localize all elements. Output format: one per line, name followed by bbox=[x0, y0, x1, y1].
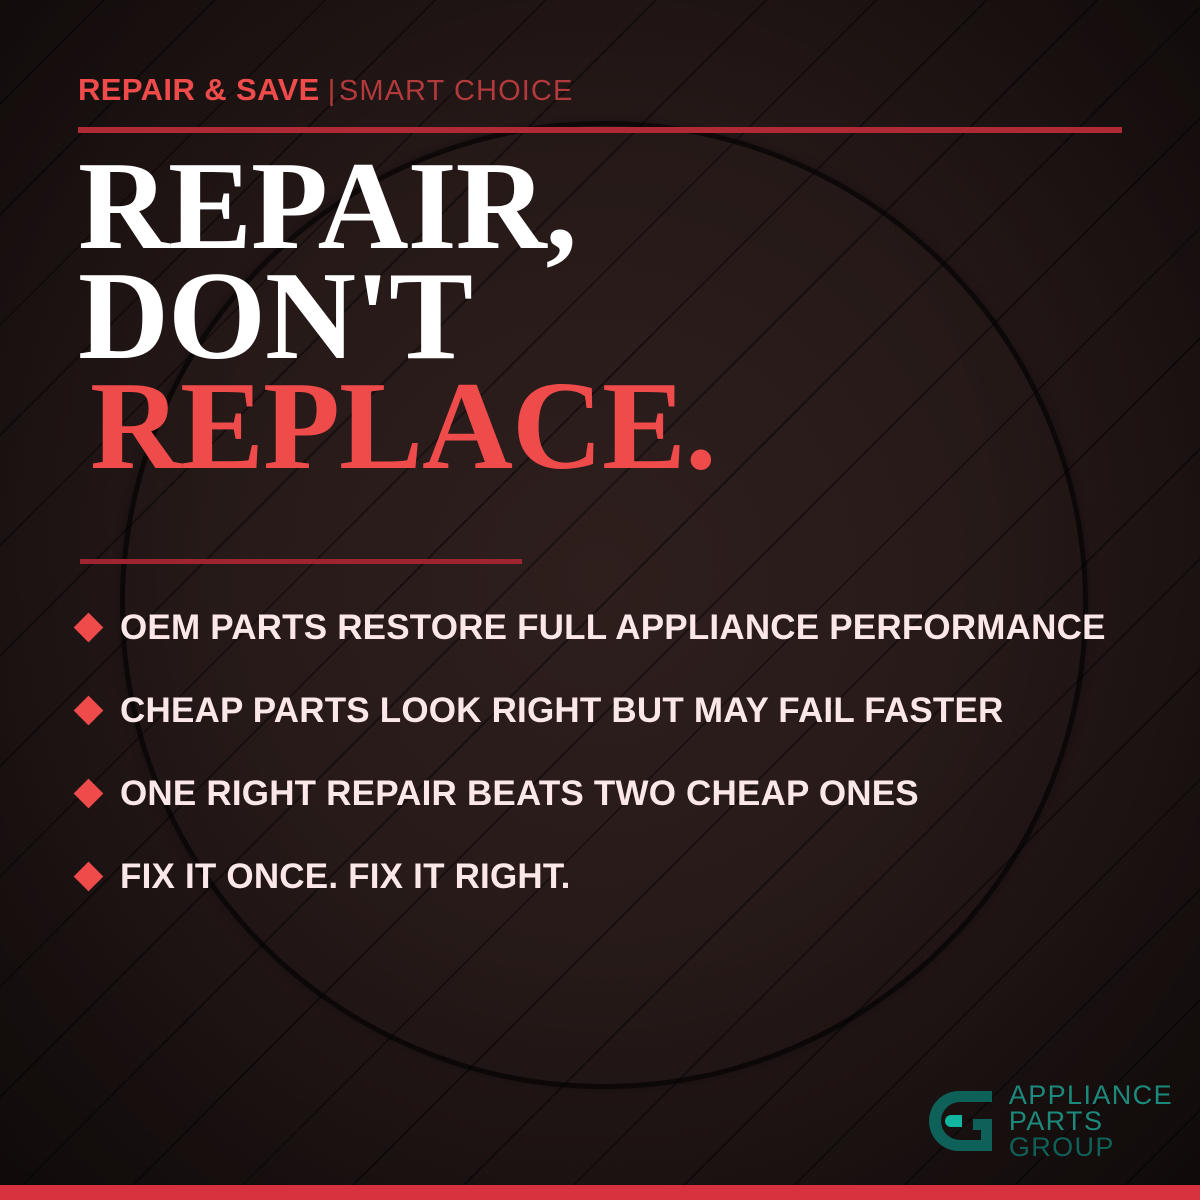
list-item: CHEAP PARTS LOOK RIGHT BUT MAY FAIL FAST… bbox=[78, 669, 1158, 752]
bottom-accent-bar bbox=[0, 1185, 1200, 1200]
divider-middle bbox=[80, 559, 522, 564]
poster-canvas: REPAIR & SAVE|SMART CHOICE REPAIR, DON'T… bbox=[0, 0, 1200, 1200]
list-item: ONE RIGHT REPAIR BEATS TWO CHEAP ONES bbox=[78, 752, 1158, 835]
list-item-label: FIX IT ONCE. FIX IT RIGHT. bbox=[120, 857, 571, 897]
divider-top bbox=[78, 127, 1122, 133]
list-item-label: CHEAP PARTS LOOK RIGHT BUT MAY FAIL FAST… bbox=[120, 691, 1004, 731]
poster-content: REPAIR & SAVE|SMART CHOICE REPAIR, DON'T… bbox=[0, 0, 1200, 1200]
diamond-icon bbox=[74, 696, 104, 726]
brand-line-1: APPLIANCE bbox=[1009, 1082, 1173, 1108]
diamond-icon bbox=[74, 779, 104, 809]
list-item-label: OEM PARTS RESTORE FULL APPLIANCE PERFORM… bbox=[120, 608, 1106, 648]
page-title: REPAIR, DON'T REPLACE. bbox=[78, 152, 1138, 482]
eyebrow: REPAIR & SAVE|SMART CHOICE bbox=[78, 74, 573, 106]
g-monogram-icon bbox=[929, 1088, 995, 1154]
diamond-icon bbox=[74, 613, 104, 643]
eyebrow-kicker: REPAIR & SAVE bbox=[78, 72, 320, 107]
brand-wordmark: APPLIANCE PARTS GROUP bbox=[1009, 1082, 1173, 1160]
headline-line-3: REPLACE. bbox=[78, 372, 1138, 482]
benefits-list: OEM PARTS RESTORE FULL APPLIANCE PERFORM… bbox=[78, 586, 1158, 918]
list-item-label: ONE RIGHT REPAIR BEATS TWO CHEAP ONES bbox=[120, 774, 919, 814]
list-item: FIX IT ONCE. FIX IT RIGHT. bbox=[78, 835, 1158, 918]
brand-line-3: GROUP bbox=[1009, 1134, 1173, 1160]
brand-line-2: PARTS bbox=[1009, 1108, 1173, 1134]
eyebrow-subtitle: SMART CHOICE bbox=[339, 75, 574, 107]
eyebrow-separator: | bbox=[328, 75, 336, 107]
brand-logo: APPLIANCE PARTS GROUP bbox=[929, 1082, 1173, 1160]
headline-line-2: DON'T bbox=[78, 262, 1138, 372]
list-item: OEM PARTS RESTORE FULL APPLIANCE PERFORM… bbox=[78, 586, 1158, 669]
diamond-icon bbox=[74, 862, 104, 892]
headline-line-1: REPAIR, bbox=[78, 152, 1138, 262]
